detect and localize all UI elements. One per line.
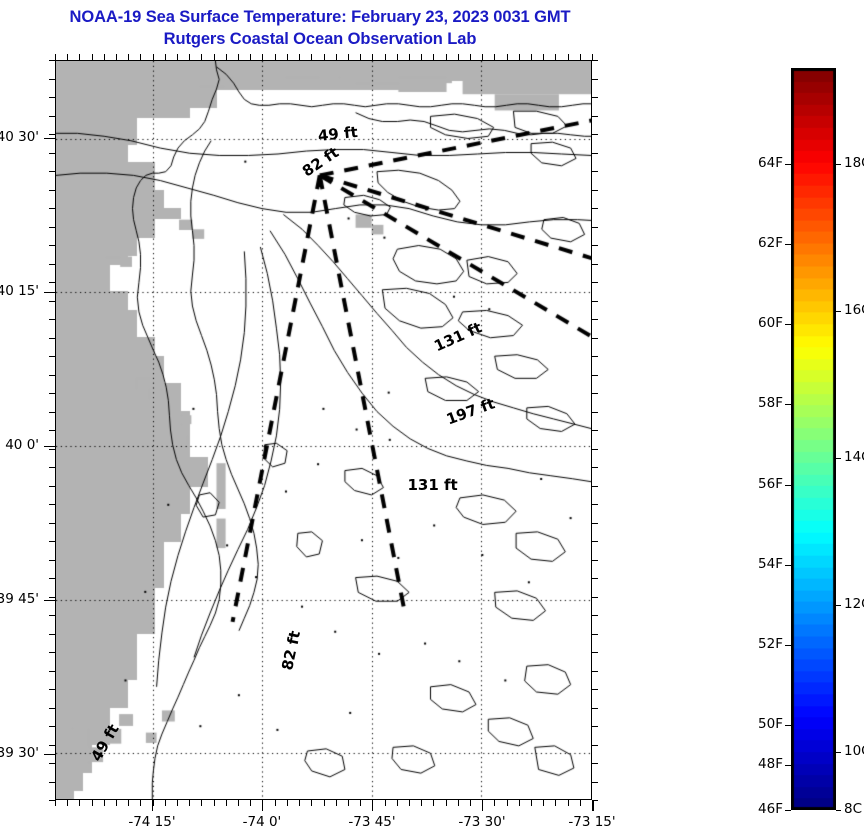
y-minor-tick-right [592,227,598,228]
x-minor-tick-top [397,54,398,60]
x-minor-tick-top [311,54,312,60]
x-minor-tick [275,800,276,806]
colorbar-celsius-label: 8C [844,801,862,817]
x-minor-tick-top [238,54,239,60]
x-minor-tick [238,800,239,806]
y-minor-tick [49,227,55,228]
x-minor-tick [446,800,447,806]
colorbar-fahrenheit-tick [785,765,791,766]
x-minor-tick-top [79,54,80,60]
y-minor-tick [49,800,55,801]
colorbar-fahrenheit-label: 48F [758,756,783,772]
colorbar-celsius-tick [836,458,841,459]
colorbar-celsius-tick [836,311,841,312]
x-minor-tick-top [421,54,422,60]
y-minor-tick-right [592,467,598,468]
colorbar-celsius-label: 12C [844,596,864,612]
y-major-tick [44,754,55,756]
x-major-tick [372,800,374,811]
y-minor-tick-right [592,264,598,265]
y-minor-tick-right [592,449,598,450]
x-major-tick [592,800,594,811]
y-minor-tick [49,560,55,561]
y-minor-tick-right [592,319,598,320]
y-minor-tick-right [592,726,598,727]
y-major-tick [44,138,55,140]
x-minor-tick [55,800,56,806]
colorbar-fahrenheit-label: 62F [758,235,783,251]
x-minor-tick-top [128,54,129,60]
x-minor-tick-top [372,54,373,60]
x-minor-tick [311,800,312,806]
x-minor-tick-top [568,54,569,60]
colorbar-celsius-tick [836,164,841,165]
x-minor-tick [568,800,569,806]
x-minor-tick-top [55,54,56,60]
colorbar-fahrenheit-tick [785,725,791,726]
x-minor-tick-top [67,54,68,60]
colorbar-fahrenheit-tick [785,645,791,646]
colorbar-fahrenheit-label: 50F [758,716,783,732]
y-minor-tick-right [592,578,598,579]
colorbar-fahrenheit-tick [785,565,791,566]
x-minor-tick-top [458,54,459,60]
y-minor-tick [49,615,55,616]
colorbar-celsius-label: 16C [844,302,864,318]
y-minor-tick-right [592,671,598,672]
colorbar-celsius-tick [836,810,841,811]
y-minor-tick-right [592,60,598,61]
x-axis-label: -74 0' [212,814,312,830]
y-minor-tick [49,708,55,709]
x-minor-tick-top [360,54,361,60]
x-minor-tick-top [299,54,300,60]
colorbar-fahrenheit-label: 56F [758,476,783,492]
colorbar-gradient [791,68,836,810]
x-minor-tick [397,800,398,806]
y-minor-tick [49,190,55,191]
y-minor-tick [49,689,55,690]
colorbar-fahrenheit-label: 64F [758,155,783,171]
y-minor-tick [49,338,55,339]
x-minor-tick [79,800,80,806]
x-minor-tick-top [336,54,337,60]
colorbar-fahrenheit-label: 60F [758,315,783,331]
x-minor-tick [385,800,386,806]
y-minor-tick-right [592,708,598,709]
x-minor-tick [128,800,129,806]
x-minor-tick [555,800,556,806]
x-minor-tick-top [433,54,434,60]
x-minor-tick [458,800,459,806]
colorbar-fahrenheit-tick [785,404,791,405]
x-minor-tick-top [470,54,471,60]
x-minor-tick-top [385,54,386,60]
y-minor-tick-right [592,153,598,154]
x-minor-tick-top [189,54,190,60]
y-minor-tick [49,301,55,302]
y-minor-tick [49,208,55,209]
x-minor-tick [214,800,215,806]
y-major-tick [44,446,55,448]
x-minor-tick [287,800,288,806]
y-minor-tick-right [592,393,598,394]
x-minor-tick-top [165,54,166,60]
x-minor-tick-top [287,54,288,60]
x-minor-tick-top [226,54,227,60]
y-minor-tick-right [592,301,598,302]
x-minor-tick-top [104,54,105,60]
x-axis-label: -74 15' [102,814,202,830]
colorbar-fahrenheit-label: 58F [758,395,783,411]
x-minor-tick-top [482,54,483,60]
y-minor-tick-right [592,523,598,524]
x-minor-tick [519,800,520,806]
y-minor-tick [49,745,55,746]
y-minor-tick-right [592,171,598,172]
y-minor-tick-right [592,208,598,209]
x-minor-tick-top [92,54,93,60]
y-minor-tick-right [592,79,598,80]
y-minor-tick-right [592,652,598,653]
y-minor-tick [49,245,55,246]
colorbar-container: 64F62F60F58F56F54F52F50F48F46F18C16C14C1… [791,68,836,810]
chart-title: NOAA-19 Sea Surface Temperature: Februar… [0,6,640,50]
y-minor-tick-right [592,745,598,746]
sst-map-plot-area: 49 ft82 ft131 ft197 ft131 ft82 ft49 ft [55,60,592,800]
x-axis-label: -73 45' [322,814,422,830]
y-minor-tick-right [592,541,598,542]
y-major-tick [44,292,55,294]
x-minor-tick [409,800,410,806]
colorbar-celsius-tick [836,752,841,753]
y-minor-tick [49,134,55,135]
y-minor-tick [49,726,55,727]
y-minor-tick-right [592,597,598,598]
x-minor-tick-top [275,54,276,60]
colorbar-fahrenheit-label: 46F [758,801,783,817]
x-major-tick [262,800,264,811]
x-minor-tick-top [531,54,532,60]
title-line-2: Rutgers Coastal Ocean Observation Lab [0,28,640,50]
x-minor-tick-top [543,54,544,60]
y-minor-tick [49,467,55,468]
x-major-tick [152,800,154,811]
y-minor-tick-right [592,430,598,431]
y-minor-tick [49,153,55,154]
y-axis-label: 39 45' [0,591,39,607]
x-minor-tick-top [507,54,508,60]
y-minor-tick-right [592,282,598,283]
x-minor-tick [433,800,434,806]
y-minor-tick [49,782,55,783]
y-minor-tick-right [592,634,598,635]
x-minor-tick-top [214,54,215,60]
y-minor-tick-right [592,245,598,246]
colorbar-fahrenheit-tick [785,810,791,811]
x-minor-tick [67,800,68,806]
y-minor-tick-right [592,560,598,561]
colorbar-celsius-label: 14C [844,449,864,465]
y-axis-label: 40 30' [0,129,39,145]
y-minor-tick-right [592,338,598,339]
colorbar-fahrenheit-label: 52F [758,636,783,652]
colorbar-fahrenheit-label: 54F [758,556,783,572]
y-axis-label: 40 15' [0,283,39,299]
x-minor-tick [360,800,361,806]
y-minor-tick [49,282,55,283]
x-minor-tick [104,800,105,806]
x-minor-tick-top [348,54,349,60]
y-minor-tick [49,375,55,376]
x-minor-tick [92,800,93,806]
colorbar-fahrenheit-tick [785,324,791,325]
y-minor-tick [49,449,55,450]
y-minor-tick-right [592,615,598,616]
y-minor-tick-right [592,134,598,135]
y-minor-tick-right [592,486,598,487]
x-minor-tick-top [201,54,202,60]
x-minor-tick-top [519,54,520,60]
y-minor-tick-right [592,356,598,357]
x-minor-tick [543,800,544,806]
y-minor-tick-right [592,375,598,376]
y-axis-label: 39 30' [0,745,39,761]
x-major-tick [482,800,484,811]
colorbar-fahrenheit-tick [785,244,791,245]
x-minor-tick [324,800,325,806]
x-minor-tick [507,800,508,806]
x-minor-tick [470,800,471,806]
y-minor-tick [49,116,55,117]
y-minor-tick [49,652,55,653]
y-minor-tick-right [592,97,598,98]
y-minor-tick [49,504,55,505]
y-minor-tick [49,578,55,579]
x-minor-tick-top [262,54,263,60]
x-minor-tick-top [140,54,141,60]
y-minor-tick-right [592,782,598,783]
y-minor-tick [49,671,55,672]
x-minor-tick [177,800,178,806]
x-minor-tick [531,800,532,806]
y-minor-tick [49,412,55,413]
y-minor-tick-right [592,763,598,764]
x-axis-label: -73 15' [542,814,642,830]
x-minor-tick [116,800,117,806]
y-minor-tick-right [592,116,598,117]
y-minor-tick [49,393,55,394]
colorbar-fahrenheit-tick [785,485,791,486]
y-minor-tick [49,523,55,524]
x-minor-tick-top [153,54,154,60]
colorbar-celsius-label: 10C [844,743,864,759]
x-minor-tick [189,800,190,806]
x-minor-tick-top [555,54,556,60]
x-minor-tick-top [446,54,447,60]
y-minor-tick [49,763,55,764]
x-minor-tick [201,800,202,806]
y-minor-tick [49,97,55,98]
y-minor-tick [49,264,55,265]
x-minor-tick-top [409,54,410,60]
y-minor-tick [49,79,55,80]
y-major-tick [44,600,55,602]
y-minor-tick [49,356,55,357]
x-minor-tick [250,800,251,806]
x-minor-tick-top [494,54,495,60]
y-minor-tick [49,60,55,61]
y-minor-tick [49,486,55,487]
y-minor-tick-right [592,689,598,690]
x-minor-tick [140,800,141,806]
x-minor-tick [580,800,581,806]
y-axis-label: 40 0' [0,437,39,453]
y-minor-tick-right [592,504,598,505]
x-minor-tick-top [177,54,178,60]
x-minor-tick [348,800,349,806]
y-minor-tick [49,171,55,172]
y-minor-tick [49,634,55,635]
colorbar-celsius-tick [836,605,841,606]
x-minor-tick-top [324,54,325,60]
x-minor-tick-top [580,54,581,60]
colorbar-fahrenheit-tick [785,164,791,165]
colorbar-celsius-label: 18C [844,155,864,171]
y-minor-tick [49,541,55,542]
x-minor-tick-top [250,54,251,60]
x-minor-tick [494,800,495,806]
title-line-1: NOAA-19 Sea Surface Temperature: Februar… [0,6,640,28]
depth-contour-label: 131 ft [407,476,457,494]
x-minor-tick [165,800,166,806]
y-minor-tick [49,597,55,598]
x-minor-tick [336,800,337,806]
x-minor-tick [226,800,227,806]
y-minor-tick [49,430,55,431]
y-minor-tick-right [592,412,598,413]
x-minor-tick-top [116,54,117,60]
sst-map-canvas [56,61,591,799]
y-minor-tick-right [592,190,598,191]
x-minor-tick [299,800,300,806]
x-minor-tick [421,800,422,806]
y-minor-tick [49,319,55,320]
x-axis-label: -73 30' [432,814,532,830]
